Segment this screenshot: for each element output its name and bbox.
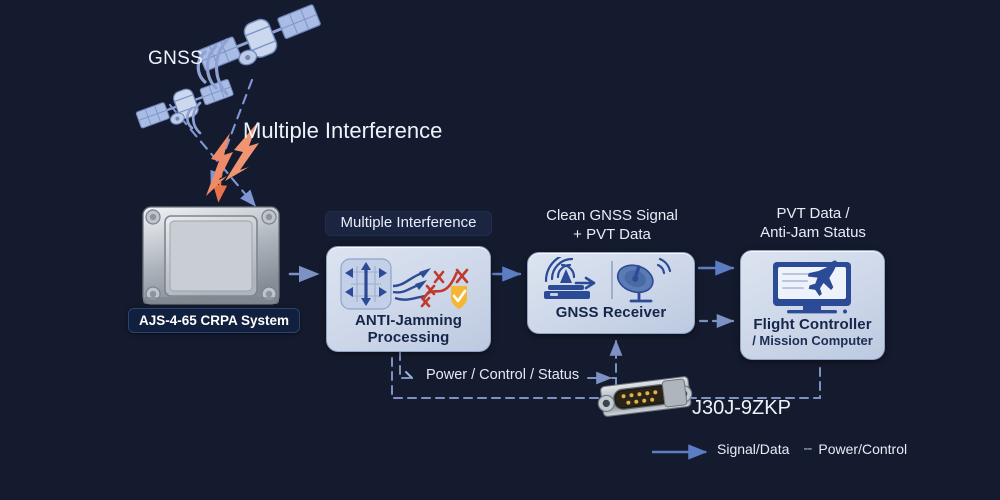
badge-crpa-system: AJS-4-65 CRPA System [128, 308, 300, 333]
node-flight-controller[interactable]: Flight Controller / Mission Computer [740, 250, 885, 360]
node-receiver-title: GNSS Receiver [556, 305, 667, 322]
legend-item-power: -- Power/Control [803, 440, 907, 457]
legend-signal-label: Signal/Data [717, 441, 789, 457]
bus-left-drop [400, 352, 410, 378]
crpa-module-icon [143, 207, 279, 304]
receiver-dish-icon [536, 257, 686, 305]
satellite-lower-icon [134, 74, 236, 136]
node-gnss-receiver[interactable]: GNSS Receiver [527, 252, 695, 334]
legend: Signal/Data -- Power/Control [648, 440, 907, 457]
label-gnss: GNSS [148, 48, 203, 70]
diagram-canvas: Multiple Interference [0, 0, 1000, 500]
jammer-path [219, 155, 223, 196]
node-antijam-subtitle: Processing [368, 330, 450, 347]
label-multiple-interference: Multiple Interference [243, 118, 442, 144]
node-antijam-title: ANTI-Jamming [355, 313, 462, 330]
antenna-array-nulling-icon [339, 255, 479, 313]
monitor-aircraft-icon [765, 259, 861, 317]
legend-dash-glyph: -- [803, 440, 811, 457]
bus-elbow-tick [406, 372, 412, 378]
label-power-control-status: Power / Control / Status [420, 367, 585, 383]
satellite-signal-paths [170, 80, 252, 202]
legend-power-label: Power/Control [818, 441, 907, 457]
caption-antijam: Multiple Interference [326, 212, 491, 235]
legend-item-signal: Signal/Data [648, 441, 789, 457]
radio-wave-lower-icon [187, 103, 200, 133]
label-connector-part-number: J30J-9ZKP [692, 397, 791, 420]
node-flight-subtitle: / Mission Computer [752, 334, 873, 349]
caption-flight: PVT Data / Anti-Jam Status [723, 205, 903, 243]
satellite-upper-icon [195, 0, 324, 80]
bus-right-to-flight [660, 364, 820, 398]
node-antijamming-processing[interactable]: ANTI-Jamming Processing [326, 246, 491, 352]
dsub-connector-icon [596, 376, 693, 417]
node-flight-title: Flight Controller [753, 317, 871, 334]
caption-receiver: Clean GNSS Signal + PVT Data [519, 207, 705, 245]
